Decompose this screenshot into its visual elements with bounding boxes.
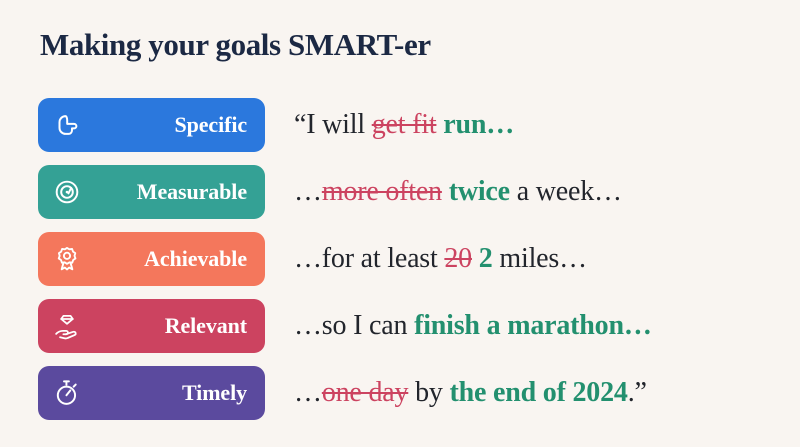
phrase-segment: [472, 243, 479, 275]
phrase-segment-highlight: the end of 2024: [449, 377, 627, 409]
smart-row-specific: Specific “I will get fit run…: [0, 98, 800, 165]
phrase-segment: …: [294, 377, 322, 409]
badge-specific[interactable]: Specific: [38, 98, 265, 152]
hand-holding-diamond-icon: [52, 311, 82, 341]
phrase-segment: …: [294, 176, 322, 208]
speedometer-icon: [52, 177, 82, 207]
phrase-segment: …for at least: [294, 243, 444, 275]
phrase-segment-highlight: twice: [449, 176, 510, 208]
smart-row-relevant: Relevant …so I can finish a marathon…: [0, 299, 800, 366]
phrase-segment: …so I can: [294, 310, 414, 342]
stopwatch-icon: [52, 378, 82, 408]
phrase-segment-highlight: 2: [479, 243, 493, 275]
phrase-segment-strikethrough: get fit: [372, 109, 437, 141]
phrase-segment: by: [408, 377, 449, 409]
phrase-relevant: …so I can finish a marathon…: [294, 299, 652, 353]
phrase-segment-highlight: …: [486, 109, 514, 141]
phrase-segment-highlight: run: [443, 109, 486, 141]
phrase-segment: a week…: [510, 176, 622, 208]
page-title: Making your goals SMART-er: [40, 27, 431, 63]
phrase-segment-strikethrough: one day: [322, 377, 408, 409]
phrase-measurable: …more often twice a week…: [294, 165, 622, 219]
phrase-segment: miles…: [493, 243, 587, 275]
phrase-segment: [442, 176, 449, 208]
phrase-segment-strikethrough: 20: [444, 243, 472, 275]
phrase-segment: “I will: [294, 109, 372, 141]
smart-goals-slide: Making your goals SMART-er Specific “I w…: [0, 0, 800, 447]
phrase-segment-strikethrough: more often: [322, 176, 442, 208]
phrase-segment: [436, 109, 443, 141]
badge-achievable[interactable]: Achievable: [38, 232, 265, 286]
phrase-segment-highlight: …: [624, 310, 652, 342]
smart-row-achievable: Achievable …for at least 20 2 miles…: [0, 232, 800, 299]
badge-label: Timely: [82, 382, 247, 404]
badge-relevant[interactable]: Relevant: [38, 299, 265, 353]
smart-row-measurable: Measurable …more often twice a week…: [0, 165, 800, 232]
award-rosette-icon: [52, 244, 82, 274]
phrase-segment-highlight: finish a marathon: [414, 310, 624, 342]
phrase-timely: …one day by the end of 2024.”: [294, 366, 647, 420]
badge-label: Relevant: [82, 315, 247, 337]
pointing-hand-icon: [52, 110, 82, 140]
smart-row-timely: Timely …one day by the end of 2024.”: [0, 366, 800, 433]
badge-label: Measurable: [82, 181, 247, 203]
badge-timely[interactable]: Timely: [38, 366, 265, 420]
smart-rows: Specific “I will get fit run… Measurable: [0, 98, 800, 433]
phrase-achievable: …for at least 20 2 miles…: [294, 232, 587, 286]
badge-label: Specific: [82, 114, 247, 136]
badge-label: Achievable: [82, 248, 247, 270]
phrase-segment: .”: [628, 377, 647, 409]
badge-measurable[interactable]: Measurable: [38, 165, 265, 219]
phrase-specific: “I will get fit run…: [294, 98, 514, 152]
